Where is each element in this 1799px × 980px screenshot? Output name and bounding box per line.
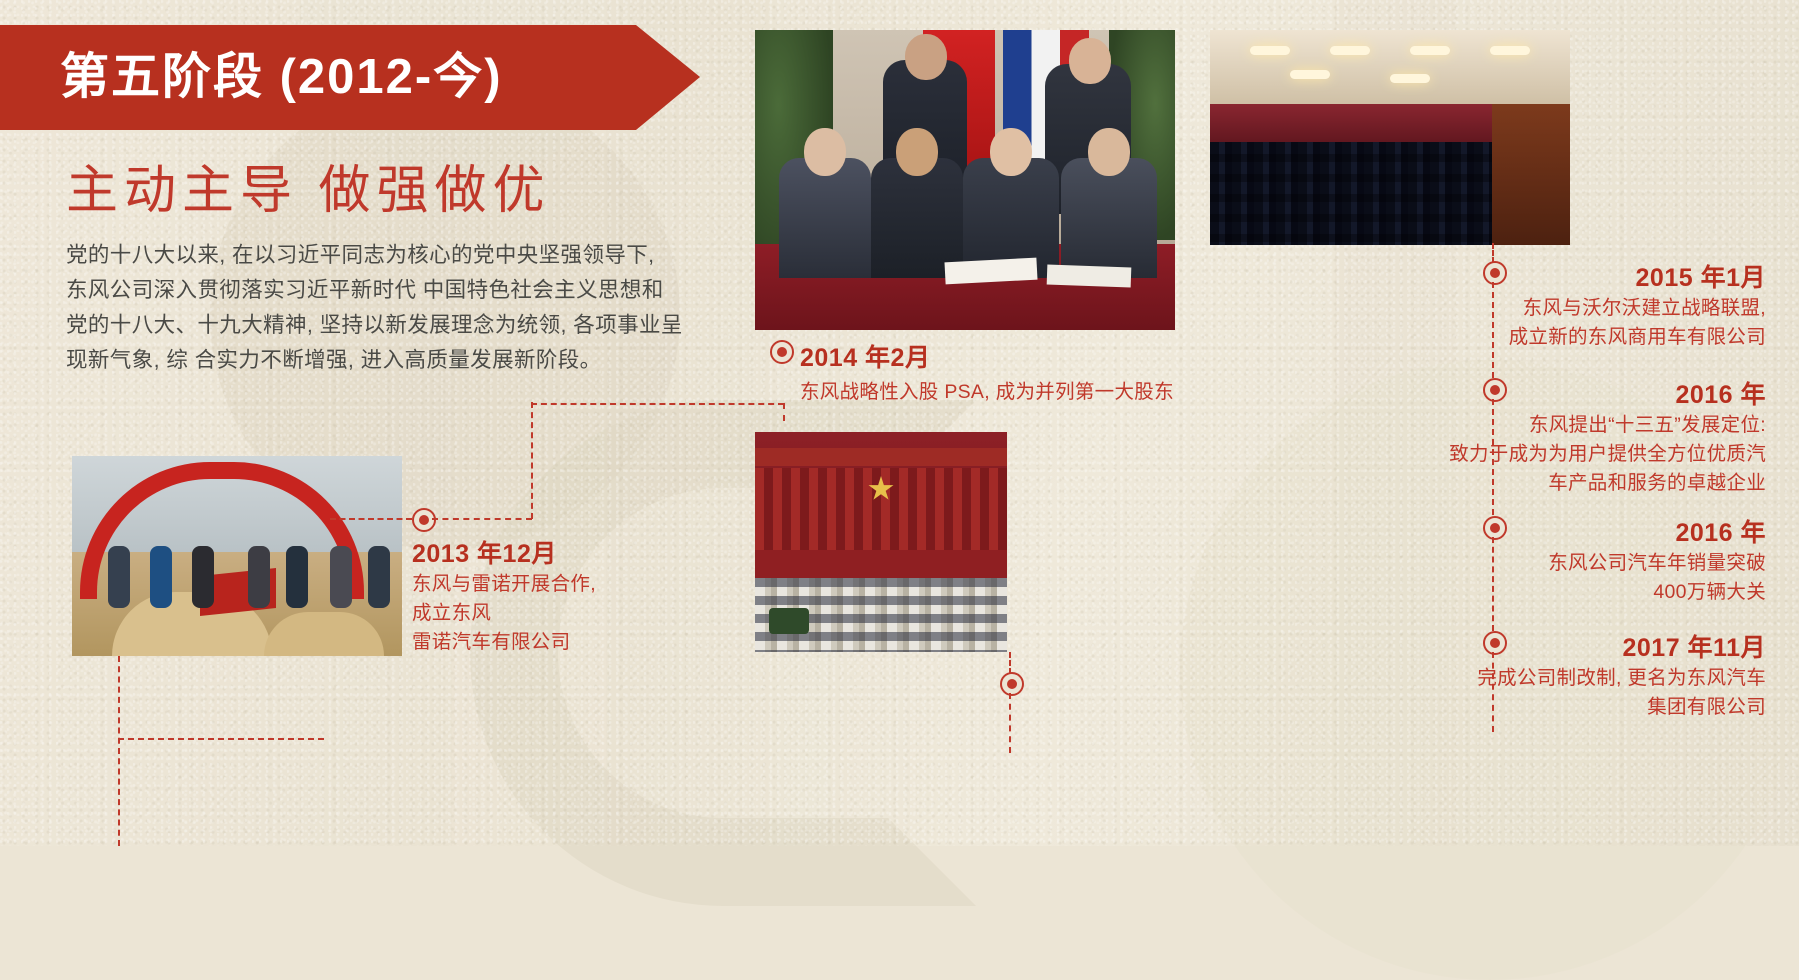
page-title: 主动主导 做强做优 (66, 148, 550, 223)
timeline-connector (118, 738, 324, 740)
stage-banner: 第五阶段 (2012-今) (0, 25, 700, 130)
timeline-event-2016-sales: 2016 年 东风公司汽车年销量突破 400万辆大关 (1346, 513, 1766, 607)
timeline-year: 2015 年1月 (1346, 258, 1766, 294)
intro-line: 东风公司深入贯彻落实习近平新时代 中国特色社会主义思想和 (66, 273, 726, 308)
intro-paragraph: 党的十八大以来, 在以习近平同志为核心的党中央坚强领导下, 东风公司深入贯彻落实… (66, 238, 726, 378)
timeline-event-2013: 2013 年12月 东风与雷诺开展合作, 成立东风 雷诺汽车有限公司 (412, 534, 596, 657)
timeline-description-line: 东风提出“十三五”发展定位: (1306, 411, 1766, 440)
timeline-dot-2013[interactable] (412, 508, 436, 532)
timeline-description-line: 东风战略性入股 PSA, 成为并列第一大股东 (800, 378, 1174, 407)
timeline-connector (783, 403, 785, 421)
intro-line: 现新气象, 综 合实力不断增强, 进入高质量发展新阶段。 (66, 343, 726, 378)
timeline-description-line: 致力于成为为用户提供全方位优质汽 (1306, 440, 1766, 469)
stage-banner-label: 第五阶段 (2012-今) (60, 53, 503, 102)
timeline-description-line: 东风与雷诺开展合作, (412, 570, 596, 599)
photo-party-congress (755, 432, 1007, 652)
timeline-year: 2017 年11月 (1326, 628, 1766, 664)
camera-icon (769, 608, 809, 634)
photo-psa-signing-ceremony (755, 30, 1175, 330)
timeline-connector (531, 402, 533, 519)
timeline-connector (531, 403, 784, 405)
timeline-year: 2016 年 (1346, 513, 1766, 549)
timeline-description-line: 成立新的东风商用车有限公司 (1346, 323, 1766, 352)
intro-line: 党的十八大以来, 在以习近平同志为核心的党中央坚强领导下, (66, 238, 726, 273)
timeline-description: 东风与沃尔沃建立战略联盟, 成立新的东风商用车有限公司 (1346, 294, 1766, 352)
timeline-connector (432, 518, 532, 520)
timeline-event-2017: 2017 年11月 完成公司制改制, 更名为东风汽车 集团有限公司 (1326, 628, 1766, 722)
timeline-event-2016-plan: 2016 年 东风提出“十三五”发展定位: 致力于成为为用户提供全方位优质汽 车… (1306, 375, 1766, 498)
timeline-description-line: 东风与沃尔沃建立战略联盟, (1346, 294, 1766, 323)
timeline-description-line: 成立东风 (412, 599, 596, 628)
timeline-description-line: 雷诺汽车有限公司 (412, 628, 596, 657)
timeline-connector (1009, 693, 1011, 753)
photo-renault-groundbreaking (72, 456, 402, 656)
timeline-dot-2018[interactable] (1000, 672, 1024, 696)
timeline-connector (118, 656, 120, 846)
timeline-description-line: 400万辆大关 (1346, 578, 1766, 607)
timeline-description-line: 车产品和服务的卓越企业 (1306, 469, 1766, 498)
timeline-description-line: 集团有限公司 (1326, 693, 1766, 722)
timeline-connector (330, 518, 412, 520)
timeline-description: 东风提出“十三五”发展定位: 致力于成为为用户提供全方位优质汽 车产品和服务的卓… (1306, 411, 1766, 498)
timeline-year: 2014 年2月 (800, 338, 1174, 374)
timeline-description-line: 完成公司制改制, 更名为东风汽车 (1326, 664, 1766, 693)
timeline-year: 2013 年12月 (412, 534, 596, 570)
timeline-dot-2014[interactable] (770, 340, 794, 364)
timeline-description: 东风与雷诺开展合作, 成立东风 雷诺汽车有限公司 (412, 570, 596, 657)
timeline-description: 东风战略性入股 PSA, 成为并列第一大股东 (800, 378, 1174, 407)
timeline-event-2014: 2014 年2月 东风战略性入股 PSA, 成为并列第一大股东 (800, 338, 1174, 407)
timeline-year: 2016 年 (1306, 375, 1766, 411)
timeline-description: 东风公司汽车年销量突破 400万辆大关 (1346, 549, 1766, 607)
intro-line: 党的十八大、十九大精神, 坚持以新发展理念为统领, 各项事业呈 (66, 308, 726, 343)
timeline-description: 完成公司制改制, 更名为东风汽车 集团有限公司 (1326, 664, 1766, 722)
photo-conference-hall (1210, 30, 1570, 245)
timeline-description-line: 东风公司汽车年销量突破 (1346, 549, 1766, 578)
timeline-event-2015: 2015 年1月 东风与沃尔沃建立战略联盟, 成立新的东风商用车有限公司 (1346, 258, 1766, 352)
timeline-connector (1009, 652, 1011, 674)
